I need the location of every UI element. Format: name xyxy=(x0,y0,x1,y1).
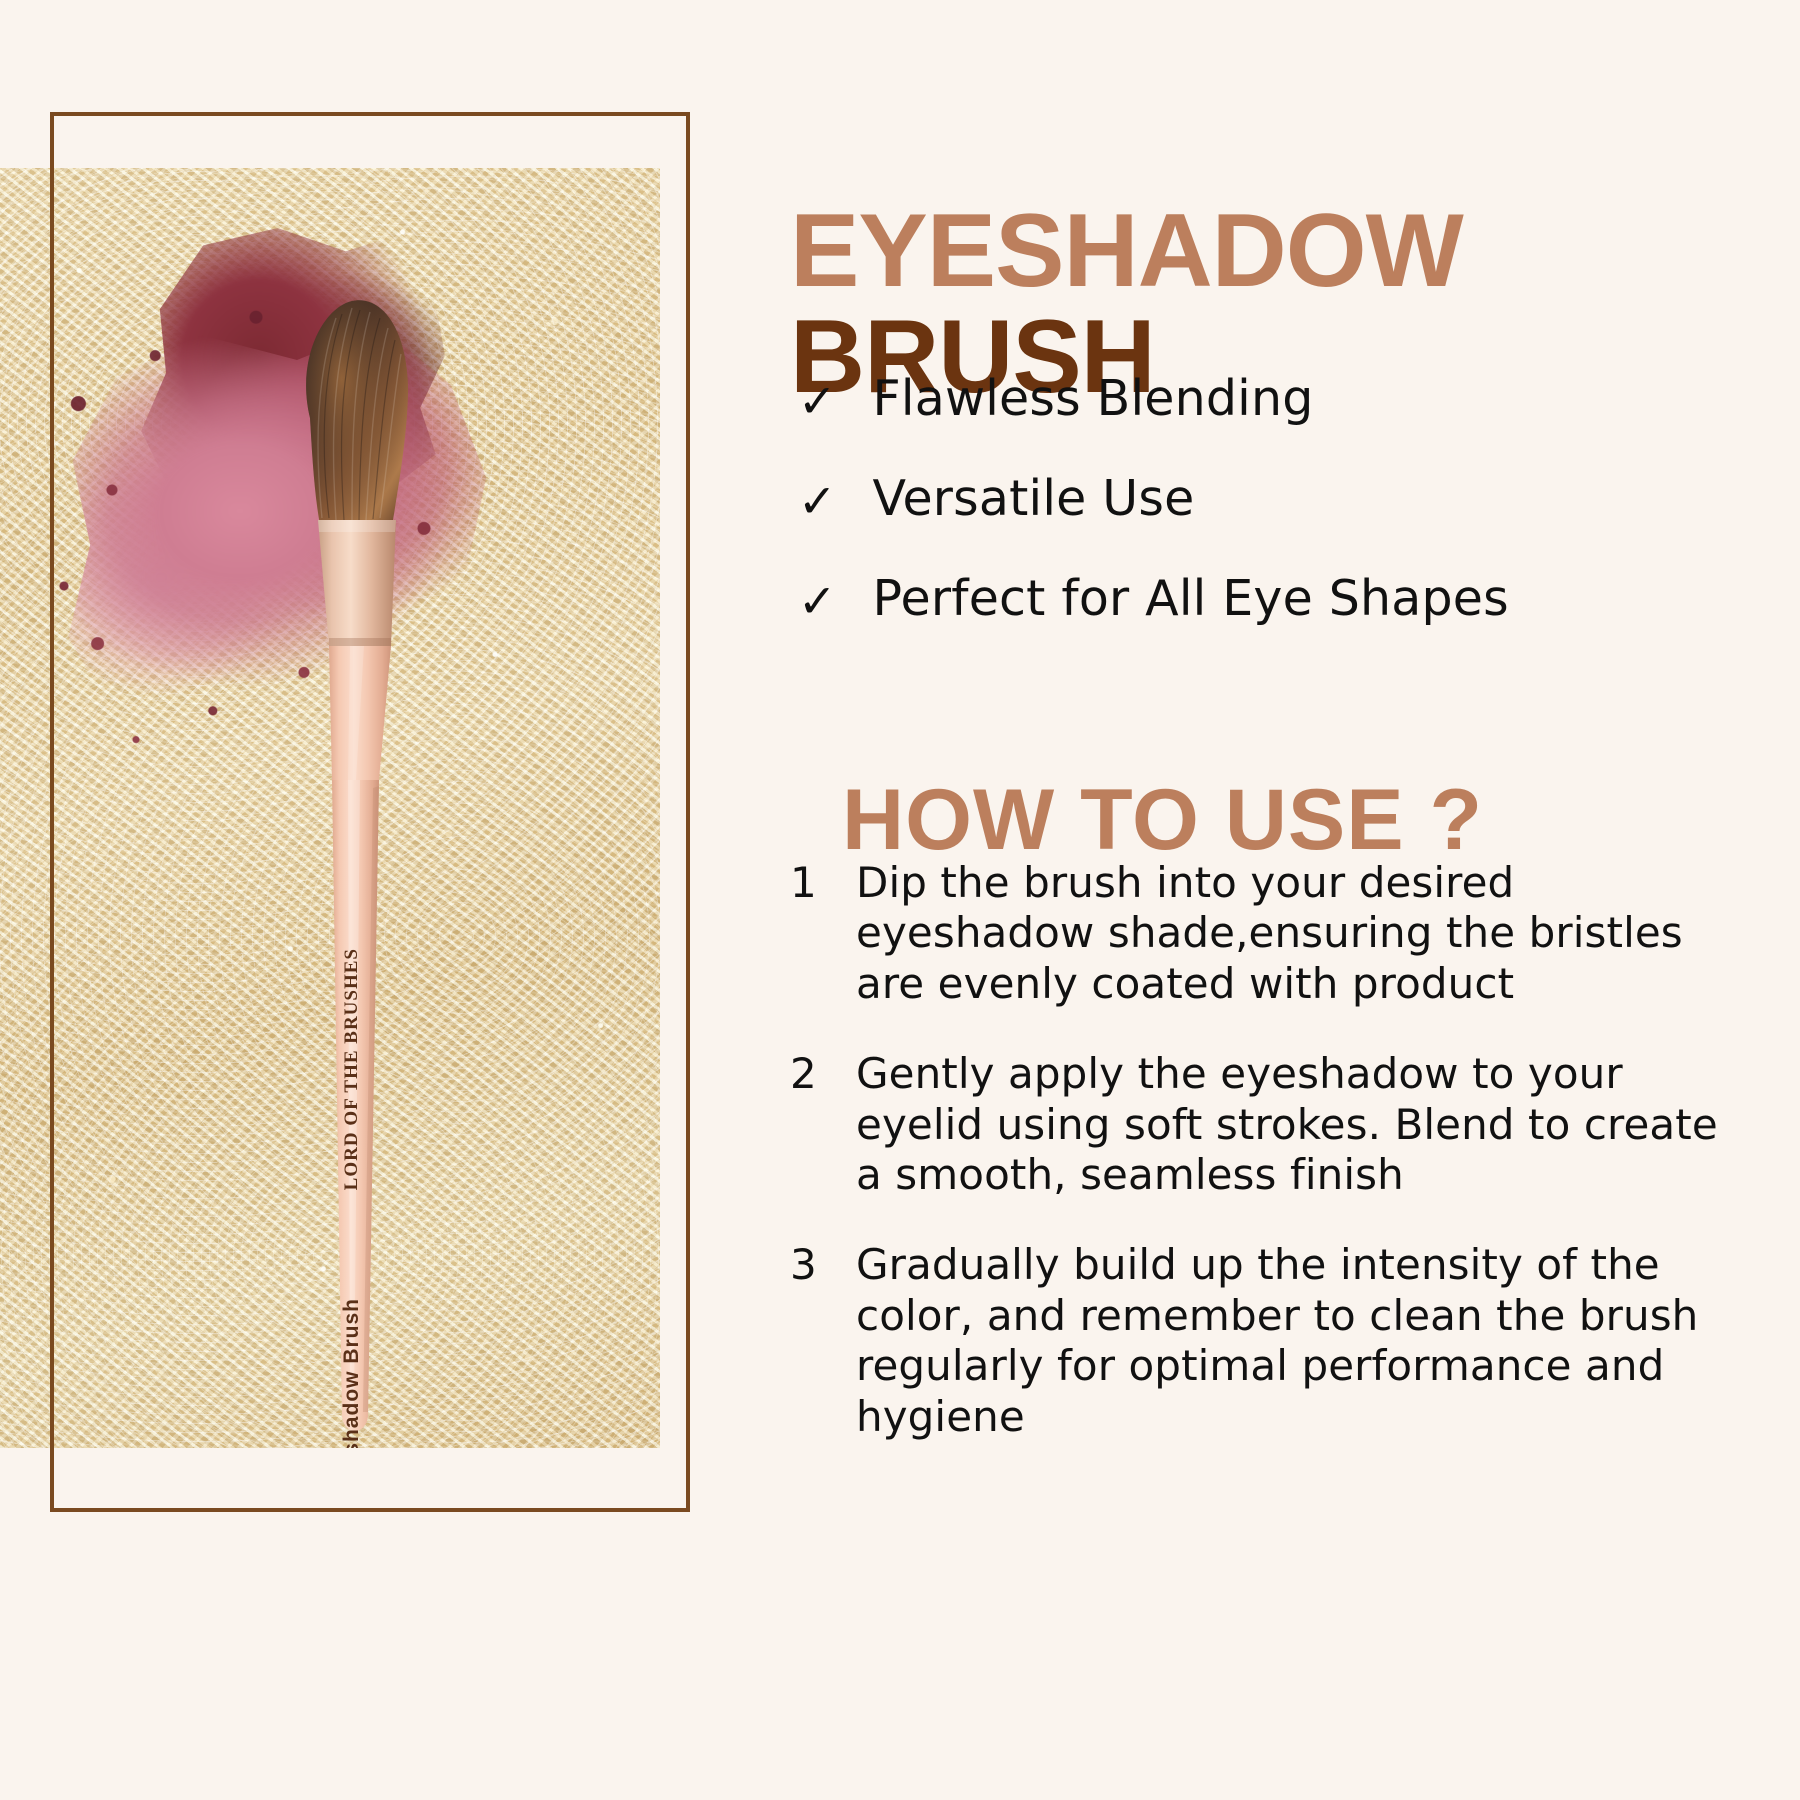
step-number: 1 xyxy=(790,858,828,908)
brush-handle-logo: LORD OF THE BRUSHES xyxy=(341,948,363,1190)
feature-list: ✓ Flawless Blending ✓ Versatile Use ✓ Pe… xyxy=(798,372,1778,672)
step-text: Gradually build up the intensity of the … xyxy=(856,1240,1756,1442)
check-icon: ✓ xyxy=(798,372,837,424)
check-icon: ✓ xyxy=(798,472,837,524)
check-icon: ✓ xyxy=(798,572,837,624)
product-photo: LORD OF THE BRUSHES Eyeshadow Brush xyxy=(0,168,660,1448)
infographic-page: LORD OF THE BRUSHES Eyeshadow Brush EYES… xyxy=(0,0,1800,1800)
step-item: 3 Gradually build up the intensity of th… xyxy=(790,1240,1800,1442)
step-text: Gently apply the eyeshadow to your eyeli… xyxy=(856,1049,1756,1200)
feature-item: ✓ Perfect for All Eye Shapes xyxy=(798,572,1778,626)
how-to-use-steps: 1 Dip the brush into your desired eyesha… xyxy=(790,858,1800,1482)
feature-label: Perfect for All Eye Shapes xyxy=(873,572,1509,626)
feature-item: ✓ Versatile Use xyxy=(798,472,1778,526)
makeup-brush-illustration xyxy=(0,168,660,1448)
title-line-1: EYESHADOW xyxy=(790,198,1780,304)
content-column: EYESHADOW BRUSH ✓ Flawless Blending ✓ Ve… xyxy=(790,0,1800,1800)
step-item: 1 Dip the brush into your desired eyesha… xyxy=(790,858,1800,1009)
step-text: Dip the brush into your desired eyeshado… xyxy=(856,858,1756,1009)
step-number: 2 xyxy=(790,1049,828,1099)
how-to-use-heading: HOW TO USE ? xyxy=(842,771,1483,870)
feature-item: ✓ Flawless Blending xyxy=(798,372,1778,426)
feature-label: Flawless Blending xyxy=(873,372,1314,426)
step-item: 2 Gently apply the eyeshadow to your eye… xyxy=(790,1049,1800,1200)
feature-label: Versatile Use xyxy=(873,472,1195,526)
step-number: 3 xyxy=(790,1240,828,1290)
brush-handle-label: Eyeshadow Brush xyxy=(340,1298,364,1448)
